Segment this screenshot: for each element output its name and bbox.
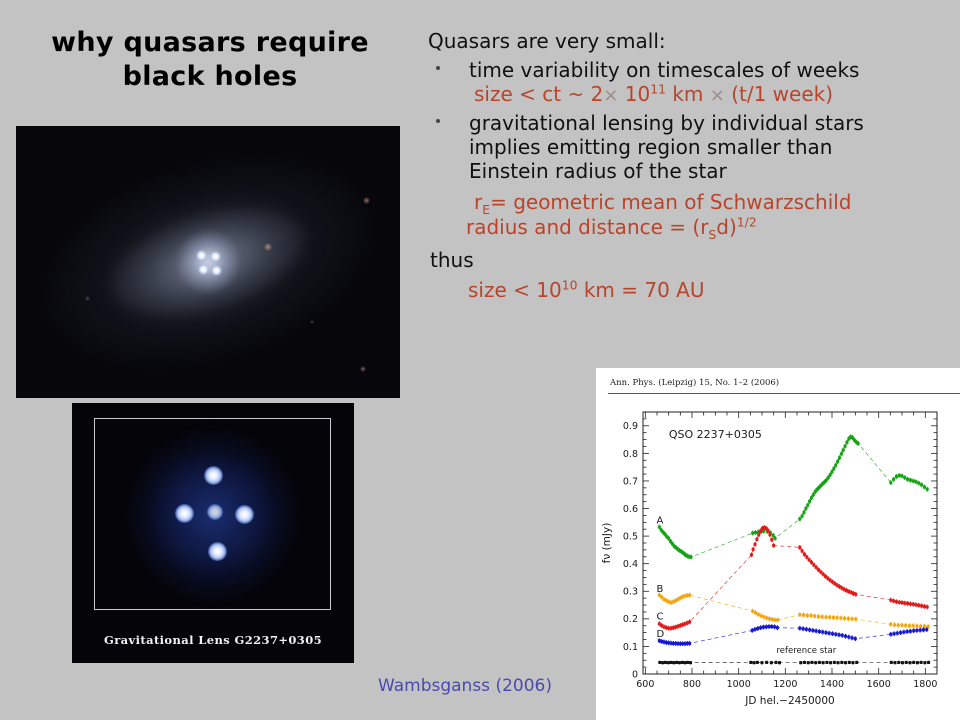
data-point (831, 470, 834, 473)
field-star-3 (360, 366, 366, 372)
data-point (806, 614, 809, 617)
formula-1-mantissa: 10 (618, 82, 650, 106)
data-point (903, 602, 906, 605)
data-point (756, 627, 759, 630)
formula-2b-pre: radius and distance = (r (466, 215, 708, 239)
data-point (844, 661, 847, 664)
data-point (889, 599, 892, 602)
data-point (901, 661, 904, 664)
field-star-2 (264, 243, 272, 251)
data-point (755, 538, 758, 541)
series-trend-A (659, 437, 927, 557)
data-point (751, 629, 754, 632)
data-point (753, 661, 756, 664)
data-point (912, 661, 915, 664)
data-point (670, 661, 673, 664)
data-point (923, 605, 926, 608)
data-point (919, 625, 922, 628)
data-point (822, 661, 825, 664)
journal-header: Ann. Phys. (Leipzig) 15, No. 1–2 (2006) (610, 378, 958, 388)
x-tick-label: 600 (636, 679, 654, 690)
data-point (802, 627, 805, 630)
series-reference-star (658, 661, 930, 664)
cross-image-bottom (208, 542, 227, 561)
series-label-D: D (657, 629, 665, 640)
data-point (667, 661, 670, 664)
formula-einstein-radius-line-1: rE= geometric mean of Schwarzschild (428, 190, 950, 215)
data-point (915, 625, 918, 628)
x-tick-label: 800 (683, 679, 701, 690)
source-credit: Wambsganss (2006) (378, 676, 552, 696)
data-point (926, 605, 929, 608)
data-point (768, 625, 771, 628)
data-point (759, 626, 762, 629)
formula-3-exponent: 10 (562, 277, 578, 292)
data-point (917, 604, 920, 607)
data-point (901, 601, 904, 604)
data-point (805, 628, 808, 631)
data-point (908, 624, 911, 627)
data-point (904, 624, 907, 627)
data-point (898, 474, 901, 477)
title-line-2: black holes (20, 60, 400, 94)
data-point (818, 661, 821, 664)
data-point (776, 626, 779, 629)
formula-1-unit: km (666, 82, 710, 106)
bullet-1-text: time variability on timescales of weeks (469, 58, 950, 82)
data-point (909, 602, 912, 605)
data-point (768, 617, 771, 620)
data-point (772, 544, 775, 547)
data-point (833, 661, 836, 664)
data-point (842, 449, 845, 452)
data-point (840, 452, 843, 455)
y-axis-label: fν (mJy) (601, 523, 613, 564)
data-point (844, 445, 847, 448)
series-trend-D (659, 627, 926, 644)
data-point (686, 661, 689, 664)
series-label-A: A (657, 516, 664, 527)
data-point (810, 614, 813, 617)
data-point (798, 627, 801, 630)
data-point (771, 618, 774, 621)
data-point (811, 629, 814, 632)
thus-label: thus (428, 248, 950, 272)
data-point (845, 441, 848, 444)
formula-3-pre: size < 10 (468, 278, 562, 302)
data-point (754, 611, 757, 614)
data-point (831, 632, 834, 635)
formula-1-pre: size < ct ~ 2 (474, 82, 603, 106)
data-point (770, 538, 773, 541)
quasar-image-1 (196, 250, 207, 261)
data-point (802, 613, 805, 616)
series-B (658, 593, 930, 629)
slide: why quasars require black holes Gravitat… (0, 0, 960, 720)
data-point (824, 631, 827, 634)
formula-size-ct: size < ct ~ 2× 1011 km × (t/1 week) (428, 82, 950, 107)
data-point (906, 602, 909, 605)
data-point (832, 616, 835, 619)
data-point (847, 636, 850, 639)
data-point (762, 626, 765, 629)
y-tick-label: 0.3 (623, 587, 638, 598)
data-point (901, 474, 904, 477)
data-point (923, 625, 926, 628)
data-point (917, 482, 920, 485)
data-point (798, 613, 801, 616)
data-point (681, 661, 684, 664)
data-point (804, 507, 807, 510)
data-point (828, 616, 831, 619)
data-point (922, 628, 925, 631)
data-point (798, 518, 801, 521)
field-star-4 (85, 296, 90, 301)
title-line-1: why quasars require (51, 27, 369, 58)
y-tick-label: 0.2 (623, 614, 638, 625)
data-point (906, 630, 909, 633)
series-C (658, 525, 929, 630)
data-point (754, 628, 757, 631)
y-tick-label: 0.1 (623, 642, 638, 653)
data-point (915, 629, 918, 632)
data-point (892, 599, 895, 602)
data-point (688, 594, 691, 597)
data-point (903, 476, 906, 479)
y-tick-label: 0.4 (623, 559, 638, 570)
bullet-dot-icon (436, 66, 440, 70)
y-tick-label: 0 (632, 669, 638, 680)
data-point (926, 488, 929, 491)
data-point (838, 456, 841, 459)
data-point (812, 493, 815, 496)
data-point (906, 478, 909, 481)
y-tick-label: 0.9 (623, 421, 638, 432)
page-title: why quasars require black holes (20, 26, 400, 94)
data-point (832, 467, 835, 470)
formula-einstein-radius-line-2: radius and distance = (rSd)1/2 (428, 215, 950, 240)
data-point (772, 534, 775, 537)
data-point (810, 496, 813, 499)
data-point (901, 624, 904, 627)
data-point (854, 618, 857, 621)
x-tick-label: 1400 (820, 679, 844, 690)
data-point (889, 623, 892, 626)
data-point (838, 633, 841, 636)
x-tick-label: 1000 (727, 679, 751, 690)
series-trend-C (659, 528, 927, 629)
data-point (762, 615, 765, 618)
data-point (684, 661, 687, 664)
data-point (836, 616, 839, 619)
data-point (807, 661, 810, 664)
formula-1-exponent: 11 (650, 82, 666, 97)
y-tick-label: 0.8 (623, 449, 638, 460)
data-point (799, 661, 802, 664)
data-point (675, 661, 678, 664)
data-point (752, 548, 755, 551)
formula-final-size: size < 1010 km = 70 AU (428, 278, 950, 302)
data-point (841, 634, 844, 637)
galaxy-core (176, 230, 240, 294)
data-point (927, 661, 930, 664)
data-point (661, 661, 664, 664)
data-point (827, 476, 830, 479)
data-point (810, 661, 813, 664)
formula-3-post: km = 70 AU (577, 278, 704, 302)
data-point (688, 620, 691, 623)
data-point (750, 553, 753, 556)
data-point (852, 661, 855, 664)
data-point (798, 546, 801, 549)
data-point (803, 553, 806, 556)
data-point (803, 661, 806, 664)
data-point (899, 631, 902, 634)
data-point (912, 479, 915, 482)
data-point (757, 533, 760, 536)
data-point (689, 661, 692, 664)
data-point (854, 637, 857, 640)
data-point (857, 442, 860, 445)
data-point (805, 556, 808, 559)
data-point (848, 661, 851, 664)
data-point (889, 481, 892, 484)
data-point (854, 593, 857, 596)
multiply-sign-2: × (710, 85, 725, 106)
data-point (801, 549, 804, 552)
data-point (890, 661, 893, 664)
data-point (815, 629, 818, 632)
data-point (760, 614, 763, 617)
data-point (778, 661, 781, 664)
series-label-C: C (657, 612, 664, 623)
data-point (837, 661, 840, 664)
data-point (813, 615, 816, 618)
data-point (895, 475, 898, 478)
x-tick-label: 1200 (773, 679, 797, 690)
data-point (923, 486, 926, 489)
reference-star-label: reference star (776, 646, 836, 656)
data-point (892, 478, 895, 481)
data-point (776, 618, 779, 621)
data-point (768, 533, 771, 536)
data-point (751, 610, 754, 613)
cross-image-left (175, 504, 194, 523)
body-heading: Quasars are very small: (428, 28, 950, 55)
y-tick-label: 0.7 (623, 476, 638, 487)
data-point (909, 479, 912, 482)
x-tick-label: 1600 (867, 679, 891, 690)
formula-1-post: (t/1 week) (725, 82, 833, 106)
series-label-B: B (657, 584, 664, 595)
cross-image-right (235, 505, 254, 524)
data-point (908, 661, 911, 664)
cross-image-top (204, 466, 223, 485)
formula-2-r: r (474, 190, 482, 214)
multiply-sign-1: × (603, 85, 618, 106)
data-point (897, 661, 900, 664)
data-point (843, 617, 846, 620)
data-point (690, 556, 693, 559)
data-point (834, 633, 837, 636)
data-point (667, 537, 670, 540)
series-D (658, 624, 928, 646)
data-point (770, 625, 773, 628)
y-tick-label: 0.6 (623, 504, 638, 515)
data-point (923, 661, 926, 664)
data-point (889, 633, 892, 636)
data-point (920, 604, 923, 607)
data-point (828, 632, 831, 635)
formula-2b-superscript: 1/2 (737, 214, 757, 229)
data-point (920, 661, 923, 664)
data-point (925, 628, 928, 631)
data-point (916, 661, 919, 664)
lightcurve-chart: 6008001000120014001600180000.10.20.30.40… (596, 402, 960, 716)
data-point (844, 635, 847, 638)
data-point (818, 630, 821, 633)
data-point (658, 661, 661, 664)
data-point (821, 631, 824, 634)
data-point (767, 529, 770, 532)
data-point (893, 632, 896, 635)
data-point (920, 483, 923, 486)
data-point (754, 531, 757, 534)
x-axis-label: JD hel.−2450000 (744, 695, 834, 707)
chart-title: QSO 2237+0305 (669, 428, 762, 441)
data-point (855, 661, 858, 664)
data-point (898, 601, 901, 604)
data-point (851, 636, 854, 639)
quasar-image-2 (210, 251, 221, 262)
data-point (751, 532, 754, 535)
data-point (756, 661, 759, 664)
data-point (912, 603, 915, 606)
bullet-dot-icon (436, 119, 440, 123)
data-point (912, 624, 915, 627)
data-point (821, 615, 824, 618)
x-tick-label: 1800 (913, 679, 937, 690)
data-point (773, 625, 776, 628)
field-star-1 (363, 197, 370, 204)
data-point (915, 480, 918, 483)
data-point (774, 618, 777, 621)
journal-figure-panel: Ann. Phys. (Leipzig) 15, No. 1–2 (2006) … (596, 368, 960, 720)
body-text-column: Quasars are very small: time variability… (428, 28, 950, 302)
bullet-2-line-3: Einstein radius of the star (469, 159, 950, 183)
quasar-image-3 (198, 264, 209, 275)
data-point (829, 473, 832, 476)
data-point (895, 600, 898, 603)
data-point (765, 617, 768, 620)
data-point (770, 661, 773, 664)
data-point (829, 661, 832, 664)
journal-header-rule (608, 393, 960, 394)
data-point (765, 661, 768, 664)
data-point (909, 630, 912, 633)
data-point (765, 625, 768, 628)
bullet-item-1: time variability on timescales of weeks (428, 58, 950, 82)
data-point (678, 661, 681, 664)
data-point (897, 624, 900, 627)
data-point (851, 617, 854, 620)
data-point (749, 661, 752, 664)
data-point (896, 632, 899, 635)
data-point (808, 628, 811, 631)
bullet-2-line-1: gravitational lensing by individual star… (469, 111, 950, 135)
bullet-2-line-2: implies emitting region smaller than (469, 135, 950, 159)
data-point (840, 661, 843, 664)
host-galaxy-image (16, 126, 400, 398)
data-point (847, 617, 850, 620)
formula-2-rest: = geometric mean of Schwarzschild (490, 190, 851, 214)
einstein-cross-image: Gravitational Lens G2237+0305 (72, 403, 354, 663)
series-A (658, 434, 929, 559)
data-point (808, 500, 811, 503)
data-point (839, 617, 842, 620)
data-point (919, 629, 922, 632)
data-point (814, 661, 817, 664)
data-point (893, 623, 896, 626)
data-point (905, 661, 908, 664)
data-point (775, 661, 778, 664)
data-point (806, 504, 809, 507)
data-point (912, 629, 915, 632)
data-point (894, 661, 897, 664)
data-point (902, 631, 905, 634)
data-point (834, 464, 837, 467)
data-point (757, 613, 760, 616)
data-point (774, 537, 777, 540)
data-point (825, 661, 828, 664)
bullet-item-2: gravitational lensing by individual star… (428, 111, 950, 184)
quasar-image-4 (211, 265, 222, 276)
image-caption: Gravitational Lens G2237+0305 (72, 633, 354, 647)
y-tick-label: 0.5 (623, 532, 638, 543)
field-star-5 (310, 320, 314, 324)
data-point (836, 460, 839, 463)
formula-2b-mid: d) (716, 215, 737, 239)
data-point (803, 511, 806, 514)
data-point (824, 616, 827, 619)
data-point (817, 615, 820, 618)
data-point (801, 514, 804, 517)
cross-image-center (207, 504, 223, 520)
data-point (664, 661, 667, 664)
data-point (915, 603, 918, 606)
data-point (761, 661, 764, 664)
data-point (754, 543, 757, 546)
data-point (688, 642, 691, 645)
data-point (672, 661, 675, 664)
